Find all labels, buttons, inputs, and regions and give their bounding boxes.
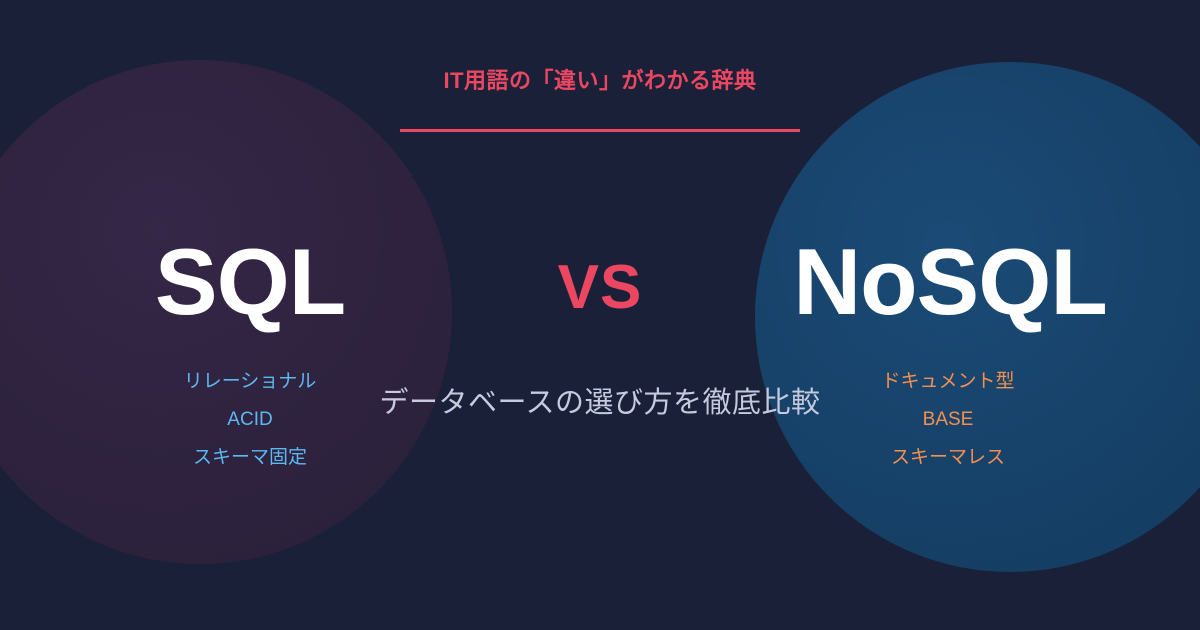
term-nosql: NoSQL bbox=[740, 235, 1160, 329]
tag-item: スキーマ固定 bbox=[50, 448, 450, 467]
comparison-side-sql: SQL bbox=[40, 235, 460, 329]
header-divider-rule bbox=[400, 129, 800, 132]
comparison-side-nosql: NoSQL bbox=[740, 235, 1160, 329]
header: IT用語の「違い」がわかる辞典 bbox=[0, 68, 1200, 94]
versus-badge: VS bbox=[490, 257, 710, 319]
header-title: IT用語の「違い」がわかる辞典 bbox=[0, 68, 1200, 94]
tag-item: スキーマレス bbox=[748, 448, 1148, 467]
versus-label: VS bbox=[490, 257, 710, 319]
comparison-row: SQL VS NoSQL bbox=[0, 235, 1200, 395]
subtitle: データベースの選び方を徹底比較 bbox=[300, 385, 900, 423]
subtitle-text: データベースの選び方を徹底比較 bbox=[300, 385, 900, 423]
poster-canvas: IT用語の「違い」がわかる辞典 SQL VS NoSQL リレーショナル ACI… bbox=[0, 0, 1200, 630]
term-sql: SQL bbox=[40, 235, 460, 329]
